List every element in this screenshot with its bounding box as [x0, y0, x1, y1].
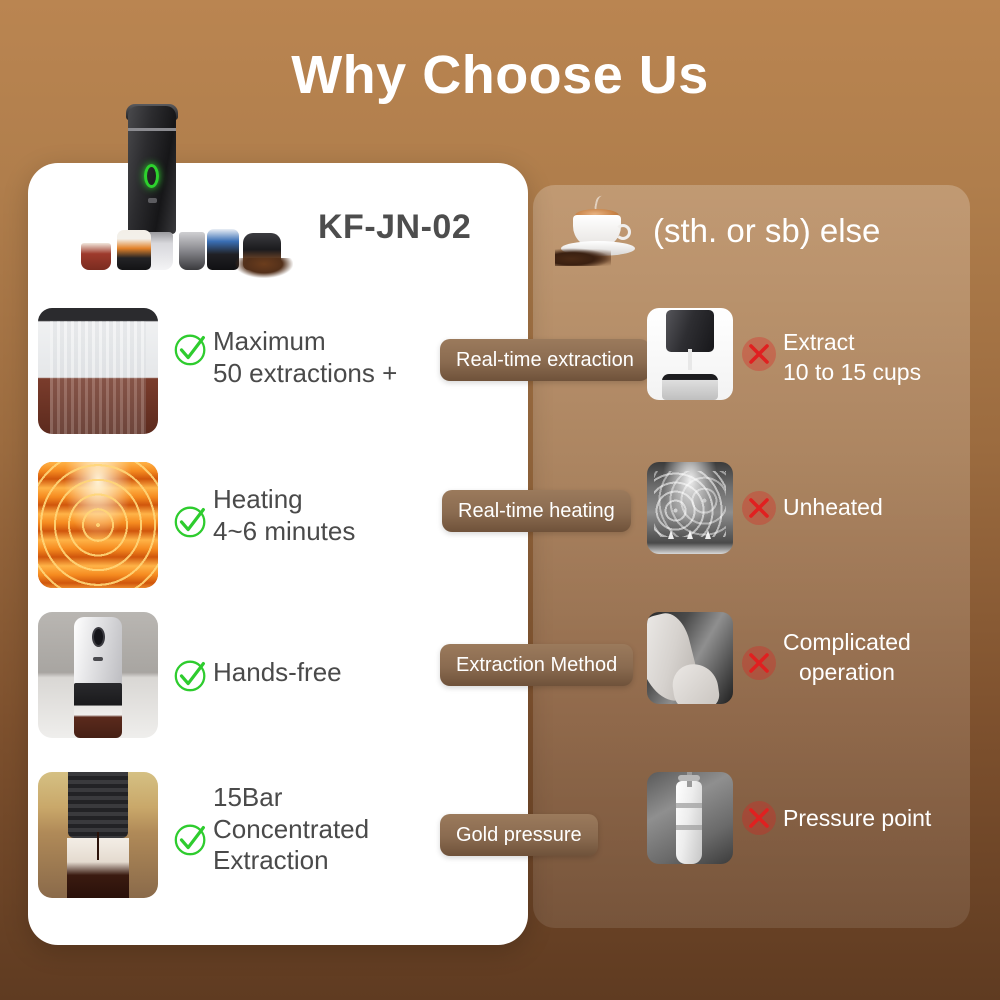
feature-badge[interactable]: Extraction Method [440, 644, 633, 686]
check-icon [172, 330, 210, 368]
feature-badge[interactable]: Real-time heating [442, 490, 631, 532]
table-row: Hands-free Extraction Method Complicated… [0, 612, 1000, 746]
con-feature-text: Complicated operation [783, 628, 911, 688]
cold-water-thumb [647, 462, 733, 554]
pro-feature-text: 15Bar Concentrated Extraction [213, 782, 369, 877]
check-icon [172, 656, 210, 694]
check-icon [172, 820, 210, 858]
con-feature-text: Unheated [783, 493, 883, 523]
pro-feature-text: Hands-free [213, 657, 342, 689]
feature-badge[interactable]: Gold pressure [440, 814, 598, 856]
carafe-extraction-thumb [38, 308, 158, 434]
cross-icon [741, 336, 777, 372]
hands-free-machine-thumb [38, 612, 158, 738]
con-feature-text: Pressure point [783, 804, 931, 834]
pro-feature-text: Maximum 50 extractions + [213, 326, 397, 389]
heating-coils-thumb [38, 462, 158, 588]
hand-pressing-thumb [647, 612, 733, 704]
manual-pump-bottle-thumb [647, 772, 733, 864]
table-row: Heating 4~6 minutes Real-time heating Un… [0, 462, 1000, 596]
table-row: Maximum 50 extractions + Real-time extra… [0, 308, 1000, 442]
comparison-rows: Maximum 50 extractions + Real-time extra… [0, 0, 1000, 1000]
check-icon [172, 502, 210, 540]
feature-badge[interactable]: Real-time extraction [440, 339, 650, 381]
why-choose-us-poster: Why Choose Us KF-JN-02 (sth. or sb) else [0, 0, 1000, 1000]
con-feature-text: Extract 10 to 15 cups [783, 328, 921, 388]
cross-icon [741, 490, 777, 526]
cross-icon [741, 800, 777, 836]
manual-press-thumb [647, 308, 733, 400]
cross-icon [741, 645, 777, 681]
table-row: 15Bar Concentrated Extraction Gold press… [0, 772, 1000, 906]
pro-feature-text: Heating 4~6 minutes [213, 484, 355, 547]
pressure-extraction-thumb [38, 772, 158, 898]
